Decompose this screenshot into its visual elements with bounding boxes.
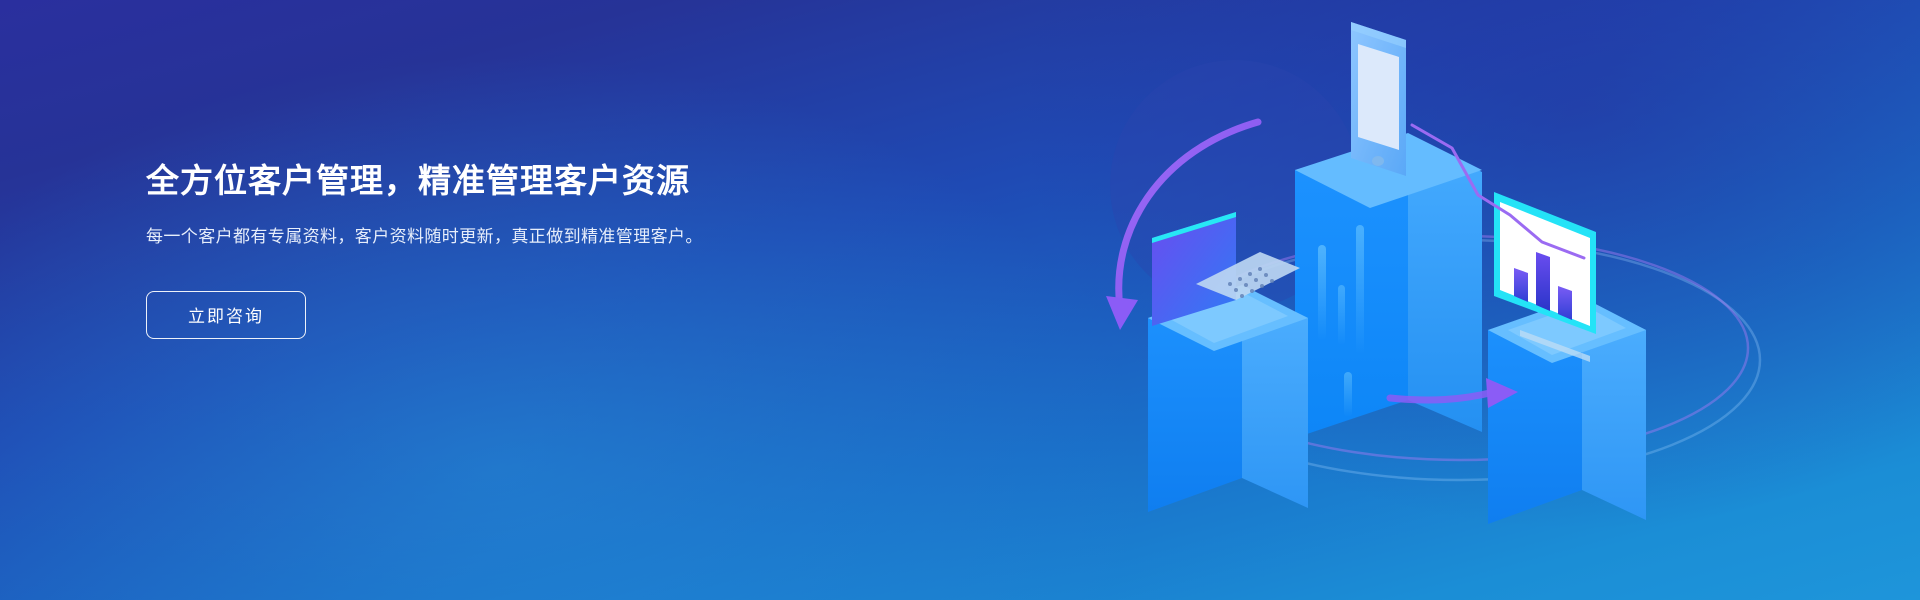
tablet-home-button	[1372, 156, 1384, 166]
pillar-light-strip	[1356, 225, 1364, 355]
page-title: 全方位客户管理，精准管理客户资源	[146, 160, 786, 201]
pillar-light-strip	[1338, 285, 1345, 345]
consult-now-button[interactable]: 立即咨询	[146, 291, 306, 339]
pillar-light-strip	[1318, 245, 1326, 340]
hero-copy-block: 全方位客户管理，精准管理客户资源 每一个客户都有专属资料，客户资料随时更新，真正…	[146, 160, 786, 339]
right-pillar	[1488, 297, 1646, 524]
tablet	[1351, 22, 1406, 176]
hero-subtitle: 每一个客户都有专属资料，客户资料随时更新，真正做到精准管理客户。	[146, 223, 731, 251]
tablet-screen	[1358, 44, 1399, 150]
hero-banner: 全方位客户管理，精准管理客户资源 每一个客户都有专属资料，客户资料随时更新，真正…	[0, 0, 1920, 600]
pillar-light-strip	[1344, 372, 1352, 417]
hero-illustration	[1090, 0, 1850, 600]
